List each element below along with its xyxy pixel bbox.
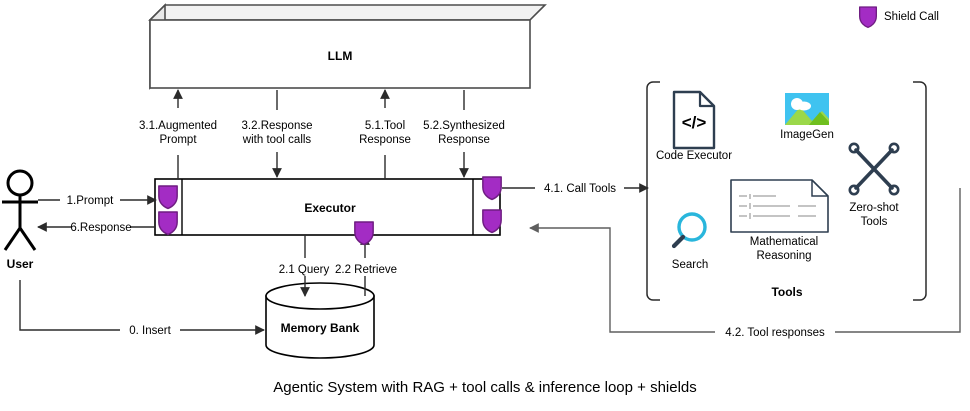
tool-code-executor[interactable]: </> Code Executor bbox=[656, 92, 732, 162]
node-memory-bank-label: Memory Bank bbox=[281, 321, 360, 335]
shield-icon-input-response[interactable] bbox=[159, 212, 177, 234]
edge-3-2-response-with-tool-calls: 3.2.Response with tool calls bbox=[242, 90, 313, 177]
diagram-caption: Agentic System with RAG + tool calls & i… bbox=[273, 379, 697, 396]
magnifier-icon bbox=[674, 214, 705, 246]
shield-icon-legend bbox=[860, 7, 877, 27]
edge-0-label: 0. Insert bbox=[129, 325, 171, 337]
edge-5-1-tool-response: 5.1.Tool Response bbox=[359, 90, 411, 179]
tools-group-label: Tools bbox=[771, 285, 802, 299]
edge-4-1-call-tools: 4.1. Call Tools bbox=[502, 183, 648, 195]
tool-search[interactable]: Search bbox=[672, 214, 708, 271]
edge-5-1-label-line1: 5.1.Tool bbox=[365, 120, 405, 132]
edge-6-response: 6.Response bbox=[38, 222, 155, 234]
math-document-icon bbox=[731, 180, 828, 232]
tool-zeroshot-label-line2: Tools bbox=[861, 216, 888, 228]
tool-imagegen-label: ImageGen bbox=[780, 129, 834, 141]
edge-0-insert: 0. Insert bbox=[20, 280, 264, 337]
legend-label: Shield Call bbox=[884, 11, 939, 23]
edge-5-2-label-line1: 5.2.Synthesized bbox=[423, 120, 505, 132]
code-document-icon: </> bbox=[674, 92, 714, 148]
node-llm[interactable]: LLM bbox=[150, 5, 545, 88]
edge-1-prompt: 1.Prompt bbox=[38, 195, 156, 207]
tool-search-label: Search bbox=[672, 259, 708, 271]
node-executor-label: Executor bbox=[304, 201, 356, 215]
shield-icon-tool-response[interactable] bbox=[483, 210, 501, 232]
tool-mathematical-reasoning[interactable]: Mathematical Reasoning bbox=[731, 180, 828, 262]
tool-imagegen[interactable]: ImageGen bbox=[780, 92, 834, 141]
tool-math-label-line2: Reasoning bbox=[757, 250, 812, 262]
edge-6-label: 6.Response bbox=[70, 222, 131, 234]
tool-code-executor-label: Code Executor bbox=[656, 150, 732, 162]
edge-3-2-label-line2: with tool calls bbox=[242, 134, 312, 146]
edge-5-1-label-line2: Response bbox=[359, 134, 411, 146]
edge-2-2-label: 2.2 Retrieve bbox=[335, 264, 397, 276]
shield-icon-tool-call[interactable] bbox=[483, 177, 501, 199]
edge-2-1-label: 2.1 Query bbox=[279, 264, 330, 276]
diagram-canvas: LLM Executor Memory Bank User 3.1.Augmen… bbox=[0, 0, 970, 411]
legend: Shield Call bbox=[860, 7, 939, 27]
image-picture-icon bbox=[784, 92, 830, 126]
node-llm-label: LLM bbox=[328, 49, 353, 63]
edge-5-2-label-line2: Response bbox=[438, 134, 490, 146]
tool-math-label-line1: Mathematical bbox=[750, 236, 818, 248]
node-user[interactable] bbox=[2, 171, 38, 250]
svg-text:</>: </> bbox=[682, 113, 707, 132]
crossed-wrenches-icon bbox=[850, 144, 898, 194]
node-user-label: User bbox=[7, 257, 34, 271]
tool-zeroshot-label-line1: Zero-shot bbox=[849, 202, 899, 214]
edge-3-1-label-line1: 3.1.Augmented bbox=[139, 120, 217, 132]
edge-5-2-synthesized-response: 5.2.Synthesized Response bbox=[423, 90, 505, 177]
shield-icon-memory[interactable] bbox=[355, 222, 373, 244]
edge-4-2-label: 4.2. Tool responses bbox=[725, 327, 825, 339]
edge-3-1-label-line2: Prompt bbox=[159, 134, 197, 146]
tool-zero-shot-tools[interactable]: Zero-shot Tools bbox=[849, 144, 899, 228]
shield-icon-input-prompt[interactable] bbox=[159, 186, 177, 208]
edge-1-label: 1.Prompt bbox=[67, 195, 114, 207]
node-memory-bank[interactable]: Memory Bank bbox=[266, 283, 374, 358]
node-executor[interactable]: Executor bbox=[155, 179, 500, 235]
edge-3-1-augmented-prompt: 3.1.Augmented Prompt bbox=[139, 90, 217, 179]
edge-4-1-label: 4.1. Call Tools bbox=[544, 183, 616, 195]
edge-3-2-label-line1: 3.2.Response bbox=[242, 120, 313, 132]
